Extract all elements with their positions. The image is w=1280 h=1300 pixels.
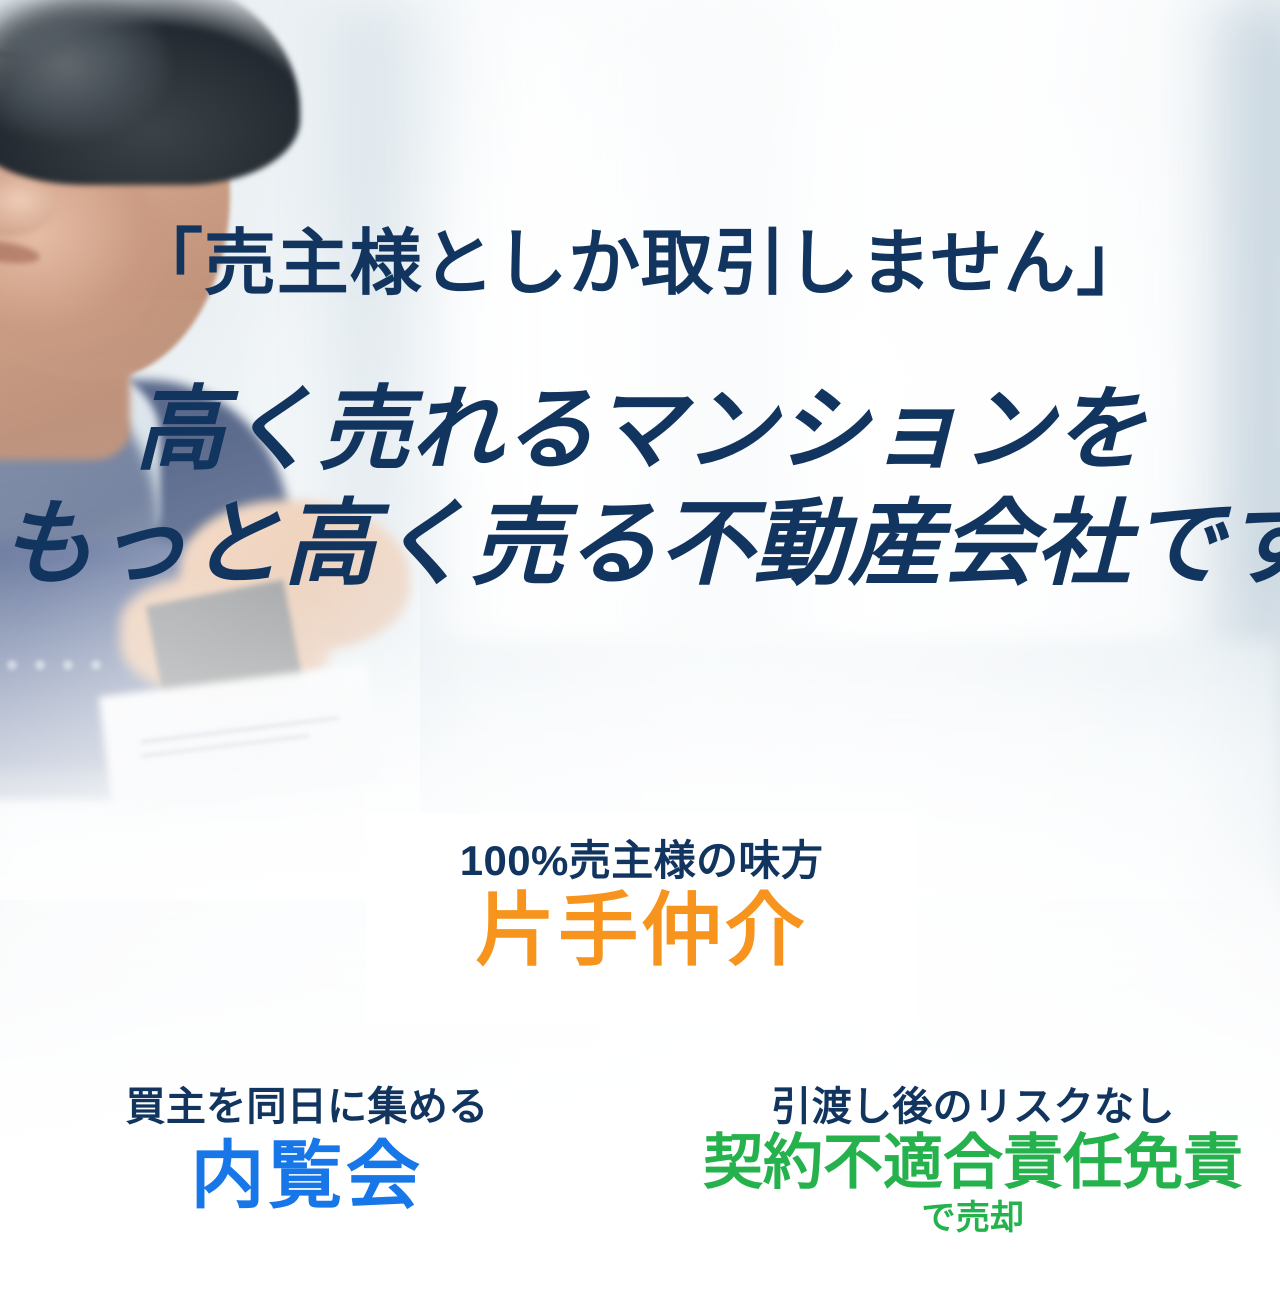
hero-headline-line-1: 高く売れるマンションを (0, 382, 1280, 480)
hero-content: 「売主様としか取引しません」 高く売れるマンションを もっと高く売る不動産会社で… (0, 0, 1280, 1300)
hero-banner: 「売主様としか取引しません」 高く売れるマンションを もっと高く売る不動産会社で… (0, 0, 1280, 1300)
benefit-title-left: 内覧会 (0, 1134, 614, 1218)
benefit-subtitle-right: 引渡し後のリスクなし (666, 1085, 1280, 1130)
feature-card-subtitle: 100%売主様の味方 (460, 838, 824, 884)
benefit-tail-right: で売却 (666, 1198, 1280, 1239)
benefit-title-right: 契約不適合責任免責 (666, 1130, 1280, 1196)
feature-card-katate-chukai: 100%売主様の味方 片手仲介 (366, 813, 917, 1025)
benefit-subtitle-left: 買主を同日に集める (0, 1085, 614, 1130)
hero-headline: 高く売れるマンションを もっと高く売る不動産会社です (0, 382, 1280, 593)
benefit-block-nairankai: 買主を同日に集める 内覧会 (0, 1085, 652, 1300)
hero-kicker: 「売主様としか取引しません」 (0, 226, 1280, 302)
hero-headline-line-2: もっと高く売る不動産会社です (0, 494, 1280, 594)
feature-card-title: 片手仲介 (475, 886, 808, 976)
benefits-row: 買主を同日に集める 内覧会 引渡し後のリスクなし 契約不適合責任免責 で売却 (0, 1085, 1280, 1300)
benefit-block-keiyaku-futekigou: 引渡し後のリスクなし 契約不適合責任免責 で売却 (652, 1085, 1280, 1300)
